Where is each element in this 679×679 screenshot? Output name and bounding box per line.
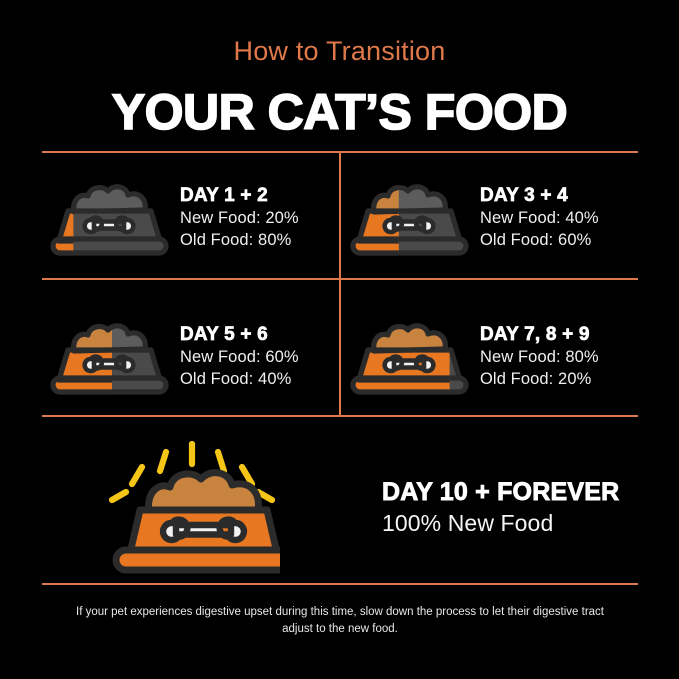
footnote-text: If your pet experiences digestive upset …	[70, 604, 610, 639]
step-new-food: New Food: 60%	[180, 347, 299, 369]
bone-shape	[85, 218, 134, 232]
celebration-food-bowl-icon	[104, 440, 280, 575]
cat-food-bowl-icon	[48, 314, 172, 400]
step-new-food: New Food: 80%	[480, 347, 599, 369]
final-step-card: DAY 10 + FOREVER 100% New Food	[104, 440, 624, 575]
bone-shape	[385, 218, 434, 232]
page-kicker: How to Transition	[0, 0, 679, 65]
step-card-day-1-2: DAY 1 + 2 New Food: 20% Old Food: 80%	[48, 170, 333, 266]
header: How to Transition YOUR CAT’S FOOD	[0, 0, 679, 137]
cat-food-bowl-icon	[348, 175, 472, 261]
final-step-day-label: DAY 10 + FOREVER	[382, 476, 619, 509]
step-old-food: Old Food: 80%	[180, 230, 299, 252]
step-new-food: New Food: 20%	[180, 208, 299, 230]
step-day-label: DAY 5 + 6	[180, 323, 299, 347]
final-step-subtitle: 100% New Food	[382, 508, 619, 539]
infographic-page: How to Transition YOUR CAT’S FOOD	[0, 0, 679, 679]
cat-food-bowl-icon	[48, 175, 172, 261]
bone-shape	[163, 520, 244, 540]
step-card-day-3-4: DAY 3 + 4 New Food: 40% Old Food: 60%	[348, 170, 638, 266]
divider-footnote	[42, 583, 638, 585]
divider-vertical	[339, 151, 341, 416]
step-card-day-5-6: DAY 5 + 6 New Food: 60% Old Food: 40%	[48, 309, 333, 405]
step-old-food: Old Food: 60%	[480, 230, 599, 252]
cat-food-bowl-icon	[348, 314, 472, 400]
step-old-food: Old Food: 20%	[480, 369, 599, 391]
step-day-label: DAY 1 + 2	[180, 184, 299, 208]
step-day-label: DAY 3 + 4	[480, 184, 599, 208]
step-day-label: DAY 7, 8 + 9	[480, 323, 599, 347]
step-old-food: Old Food: 40%	[180, 369, 299, 391]
bone-shape	[85, 357, 134, 371]
bone-shape	[385, 357, 434, 371]
step-new-food: New Food: 40%	[480, 208, 599, 230]
page-title: YOUR CAT’S FOOD	[0, 65, 679, 137]
step-card-day-7-8-9: DAY 7, 8 + 9 New Food: 80% Old Food: 20%	[348, 309, 638, 405]
